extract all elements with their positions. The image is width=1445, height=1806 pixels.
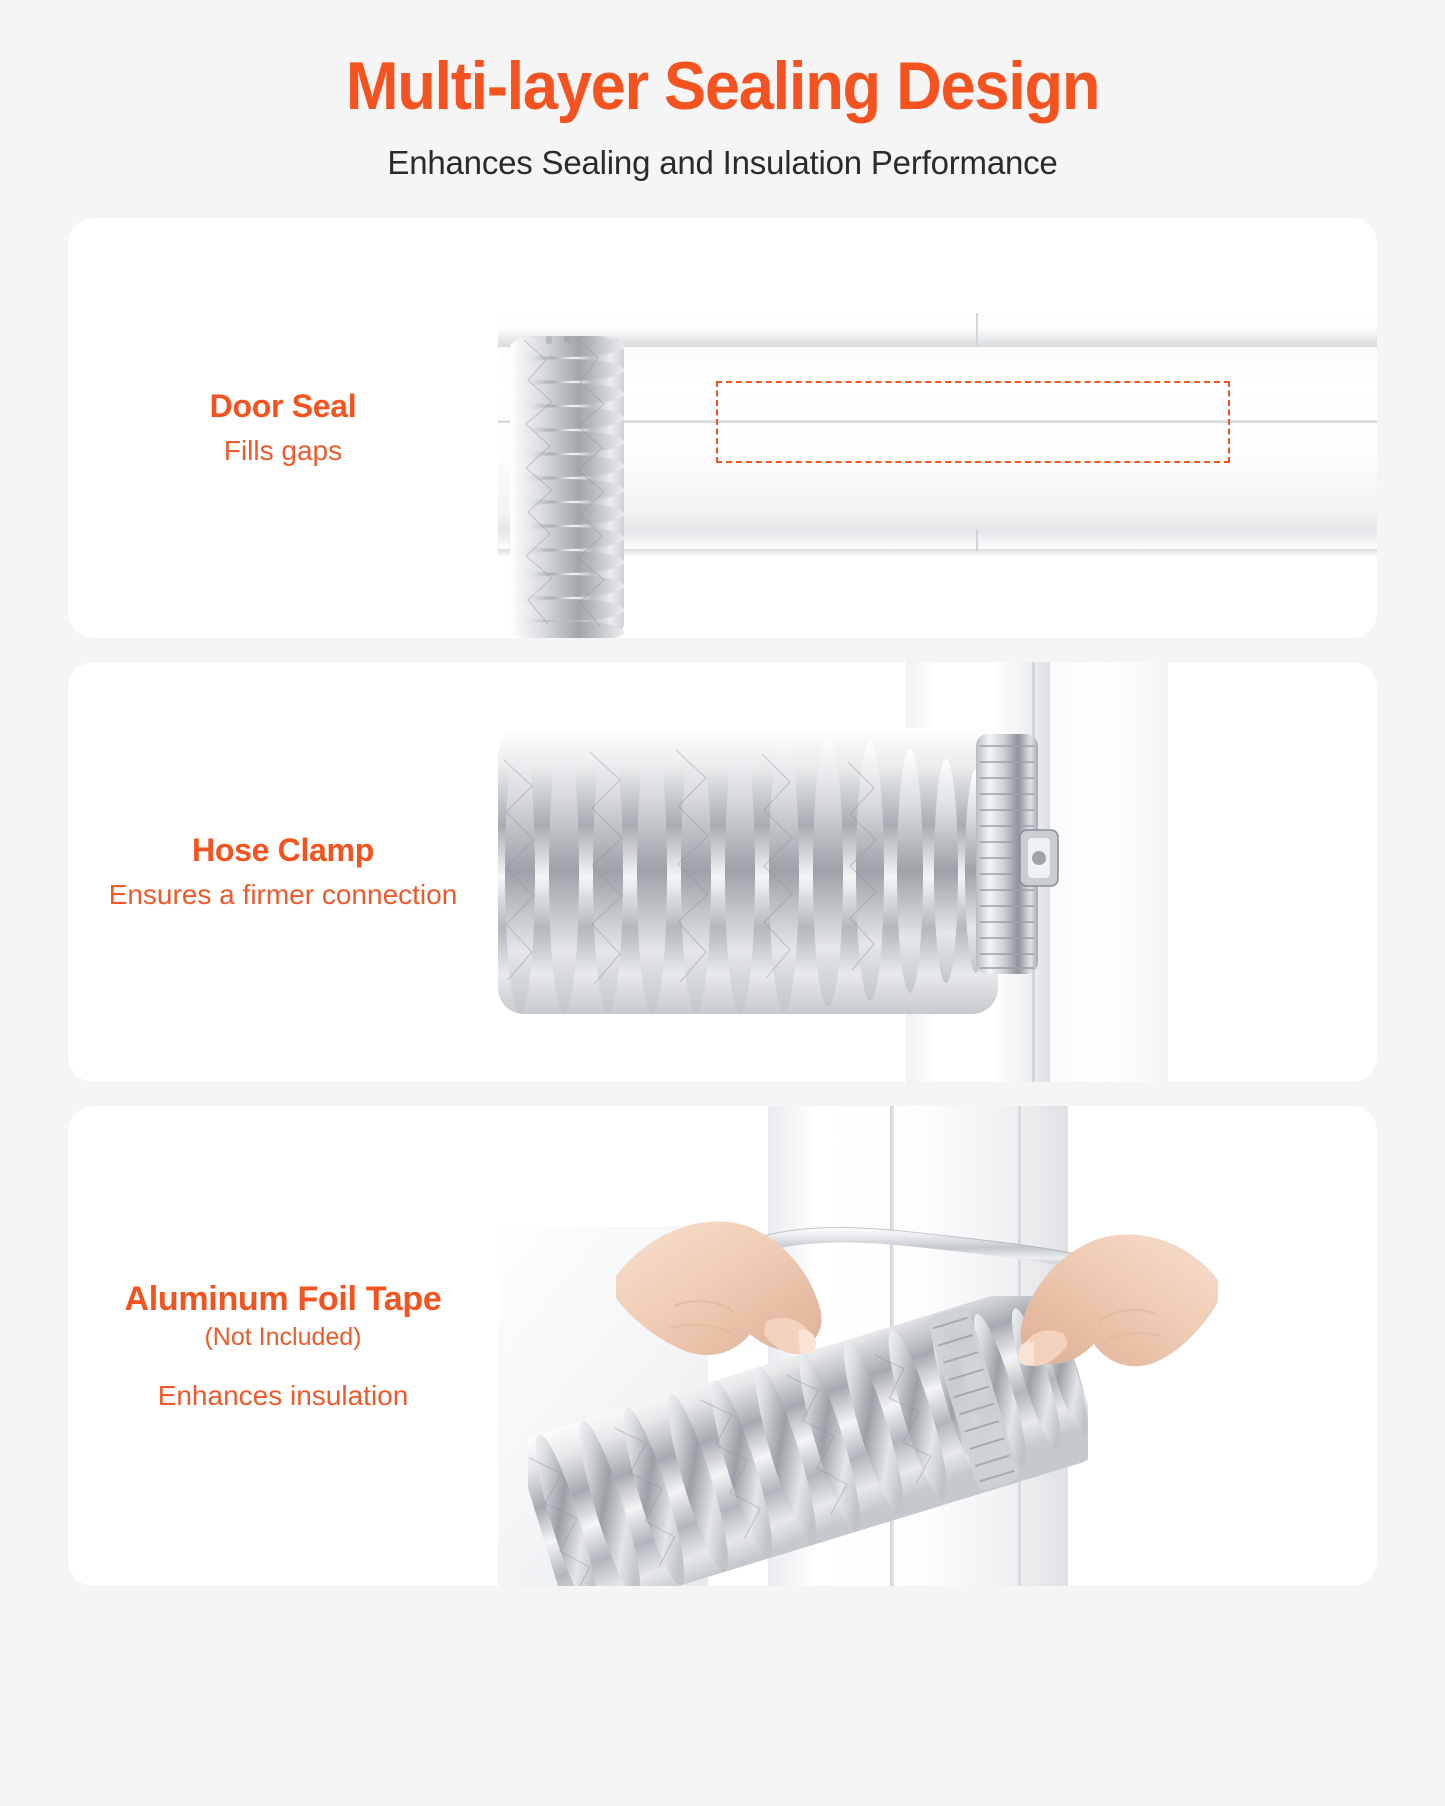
window-frame-column-secondary bbox=[1050, 662, 1168, 1082]
page-header: Multi-layer Sealing Design Enhances Seal… bbox=[0, 0, 1445, 182]
feature-title: Door Seal bbox=[68, 388, 498, 425]
foil-duct-hose-icon bbox=[506, 336, 628, 638]
card-text-block: Aluminum Foil Tape (Not Included) Enhanc… bbox=[68, 1280, 508, 1413]
feature-card-list: Door Seal Fills gaps bbox=[0, 218, 1445, 1586]
feature-image-hose-clamp bbox=[498, 662, 1377, 1082]
seal-highlight-annotation bbox=[716, 381, 1230, 463]
foil-duct-hose-icon bbox=[498, 700, 998, 1040]
panel-vertical-joint bbox=[976, 529, 978, 551]
hose-clamp-photo bbox=[498, 662, 1377, 1082]
page-subtitle: Enhances Sealing and Insulation Performa… bbox=[0, 144, 1445, 182]
feature-title: Hose Clamp bbox=[68, 832, 498, 869]
card-text-block: Hose Clamp Ensures a firmer connection bbox=[68, 832, 508, 912]
window-panel-photo bbox=[498, 218, 1377, 638]
panel-bottom-rail bbox=[498, 529, 1377, 549]
feature-note: (Not Included) bbox=[68, 1323, 498, 1352]
card-text-block: Door Seal Fills gaps bbox=[68, 388, 508, 468]
panel-seam bbox=[976, 313, 978, 347]
right-hand-icon bbox=[1018, 1214, 1218, 1444]
feature-description: Fills gaps bbox=[68, 433, 498, 468]
panel-drop-shadow bbox=[498, 549, 1377, 557]
page-title: Multi-layer Sealing Design bbox=[51, 52, 1395, 120]
hose-clamp-icon bbox=[968, 734, 1060, 974]
left-hand-icon bbox=[616, 1202, 836, 1432]
feature-image-door-seal bbox=[498, 218, 1377, 638]
feature-title: Aluminum Foil Tape bbox=[68, 1280, 498, 1319]
feature-image-aluminum-foil-tape bbox=[498, 1106, 1377, 1586]
feature-card-door-seal: Door Seal Fills gaps bbox=[68, 218, 1377, 638]
feature-description: Enhances insulation bbox=[68, 1378, 498, 1413]
feature-description: Ensures a firmer connection bbox=[68, 877, 498, 912]
feature-card-hose-clamp: Hose Clamp Ensures a firmer connection bbox=[68, 662, 1377, 1082]
tape-application-photo bbox=[498, 1106, 1377, 1586]
panel-top-rail bbox=[498, 313, 1377, 347]
feature-card-aluminum-foil-tape: Aluminum Foil Tape (Not Included) Enhanc… bbox=[68, 1106, 1377, 1586]
